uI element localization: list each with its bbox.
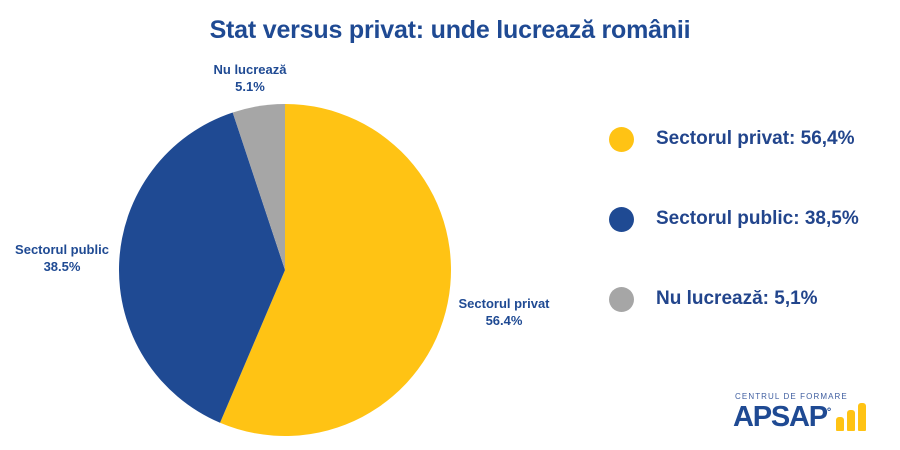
legend-item-label: Sectorul privat: 56,4% — [656, 128, 855, 150]
logo-wordmark-text: APSAP — [733, 401, 827, 433]
legend-item-label: Nu lucrează: 5,1% — [656, 288, 818, 310]
legend-swatch-icon — [609, 127, 634, 152]
logo-bar-1 — [836, 417, 844, 431]
apsap-logo: CENTRUL DE FORMARE APSAP° — [733, 392, 885, 440]
legend-swatch-icon — [609, 207, 634, 232]
pie-label-name: Sectorul public — [0, 242, 130, 259]
logo-bar-2 — [847, 410, 855, 431]
logo-bars-icon — [836, 403, 866, 431]
pie-label-nu-lucreaza: Nu lucrează 5.1% — [185, 62, 315, 95]
chart-canvas: Stat versus privat: unde lucrează români… — [0, 0, 900, 450]
legend-item-sectorul-privat[interactable]: Sectorul privat: 56,4% — [609, 118, 899, 160]
logo-wordmark-row: APSAP° — [733, 403, 885, 432]
page-title: Stat versus privat: unde lucrează români… — [0, 16, 900, 45]
pie-label-sectorul-public: Sectorul public 38.5% — [0, 242, 130, 275]
pie-label-sectorul-privat: Sectorul privat 56.4% — [432, 296, 576, 329]
pie-svg — [118, 103, 452, 437]
pie-label-name: Nu lucrează — [185, 62, 315, 79]
legend-swatch-icon — [609, 287, 634, 312]
legend-item-sectorul-public[interactable]: Sectorul public: 38,5% — [609, 198, 899, 240]
legend-item-label: Sectorul public: 38,5% — [656, 208, 859, 230]
logo-degree-mark: ° — [827, 406, 830, 418]
pie-chart — [118, 103, 452, 437]
legend-item-nu-lucreaza[interactable]: Nu lucrează: 5,1% — [609, 278, 899, 320]
logo-tagline: CENTRUL DE FORMARE — [735, 392, 885, 401]
legend: Sectorul privat: 56,4% Sectorul public: … — [609, 118, 899, 320]
pie-label-value: 56.4% — [432, 313, 576, 330]
logo-wordmark: APSAP° — [733, 403, 830, 432]
pie-label-value: 38.5% — [0, 259, 130, 276]
pie-label-name: Sectorul privat — [432, 296, 576, 313]
logo-bar-3 — [858, 403, 866, 431]
pie-label-value: 5.1% — [185, 79, 315, 96]
